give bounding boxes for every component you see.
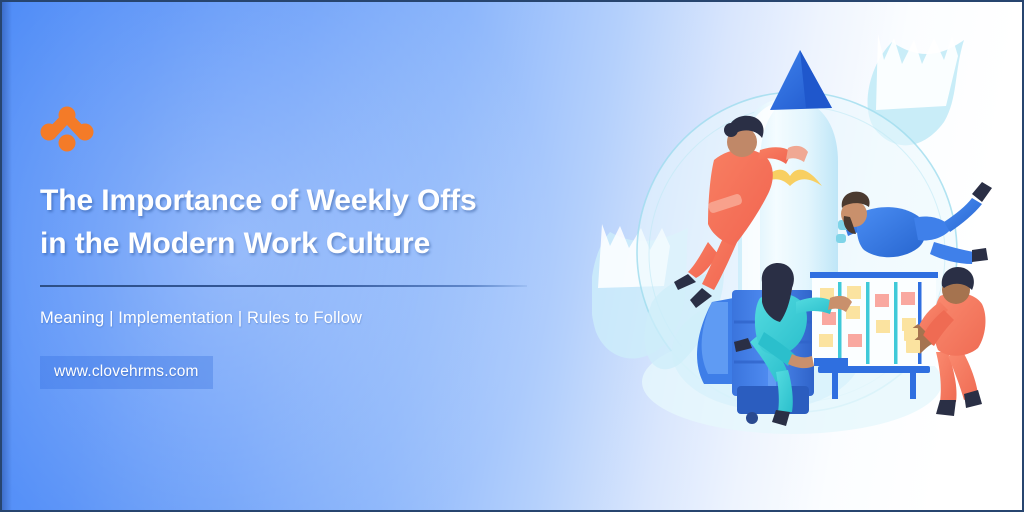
background-left-edge-shade bbox=[2, 2, 12, 510]
clove-molecule-logo-icon bbox=[40, 106, 94, 152]
banner-content: The Importance of Weekly Offs in the Mod… bbox=[40, 106, 560, 389]
subtitle: Meaning | Implementation | Rules to Foll… bbox=[40, 309, 560, 328]
page-title: The Importance of Weekly Offs in the Mod… bbox=[40, 180, 560, 265]
brand-logo[interactable] bbox=[40, 106, 94, 152]
promo-banner: The Importance of Weekly Offs in the Mod… bbox=[0, 0, 1024, 512]
title-divider bbox=[40, 285, 527, 287]
website-url-badge[interactable]: www.clovehrms.com bbox=[40, 356, 213, 389]
team-building-rocket-illustration bbox=[592, 2, 1022, 512]
